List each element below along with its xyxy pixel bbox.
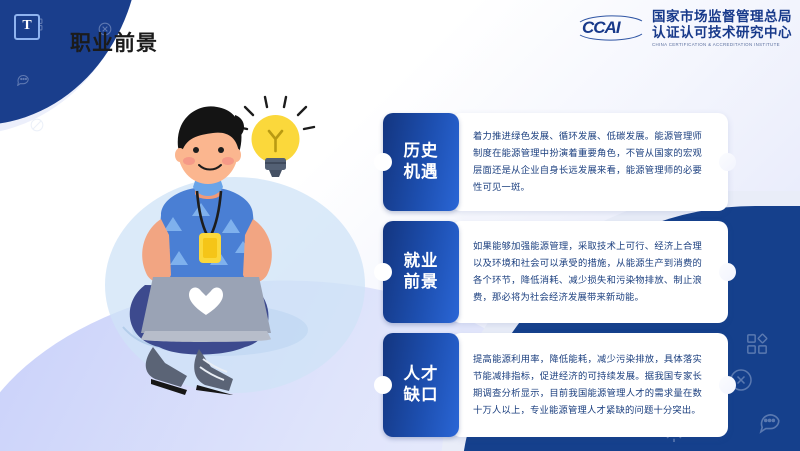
card-tab[interactable]: 历史 机遇 — [383, 113, 459, 211]
page-title: 职业前景 — [70, 27, 158, 57]
card-employment-outlook[interactable]: 就业 前景 如果能够加强能源管理，采取技术上可行、经济上合理以及环境和社会可以承… — [383, 221, 728, 323]
logo-line-3-english: CHINA CERTIFICATION & ACCREDITATION INST… — [652, 42, 792, 47]
content-cards: 历史 机遇 着力推进绿色发展、循环发展、低碳发展。能源管理师制度在能源管理中扮演… — [383, 113, 728, 447]
grid-apps-icon — [746, 333, 768, 355]
chat-bubble-icon — [16, 72, 30, 86]
organization-logo: CCAI 国家市场监督管理总局 认证认可技术研究中心 CHINA CERTIFI… — [578, 9, 792, 48]
lightbulb-icon — [237, 97, 314, 177]
text-tool-icon[interactable]: T — [14, 14, 40, 40]
logo-line-1: 国家市场监督管理总局 — [652, 9, 792, 25]
card-tab[interactable]: 就业 前景 — [383, 221, 459, 323]
card-body: 提高能源利用率，降低能耗，减少污染排放，具体落实节能减排指标，促进经济的可持续发… — [451, 333, 728, 437]
tab-notch — [374, 153, 392, 171]
card-body-text: 如果能够加强能源管理，采取技术上可行、经济上合理以及环境和社会可以承受的措施，从… — [473, 238, 702, 307]
card-body-text: 提高能源利用率，降低能耗，减少污染排放，具体落实节能减排指标，促进经济的可持续发… — [473, 351, 702, 420]
prohibited-icon — [30, 118, 44, 132]
card-tab-label: 就业 前景 — [404, 251, 439, 293]
card-body-notch — [719, 153, 736, 171]
logo-organization-text: 国家市场监督管理总局 认证认可技术研究中心 CHINA CERTIFICATIO… — [652, 9, 792, 48]
tab-notch — [374, 263, 392, 281]
card-tab-label: 历史 机遇 — [404, 141, 439, 183]
card-body-text: 着力推进绿色发展、循环发展、低碳发展。能源管理师制度在能源管理中扮演着重要角色，… — [473, 128, 702, 197]
card-tab[interactable]: 人才 缺口 — [383, 333, 459, 437]
card-tab-label: 人才 缺口 — [404, 364, 439, 406]
chat-bubble-icon — [756, 408, 782, 434]
card-body-notch — [719, 376, 736, 394]
tab-notch — [374, 376, 392, 394]
card-history-opportunity[interactable]: 历史 机遇 着力推进绿色发展、循环发展、低碳发展。能源管理师制度在能源管理中扮演… — [383, 113, 728, 211]
logo-line-2: 认证认可技术研究中心 — [652, 25, 792, 41]
slide-canvas: T 职业前景 — [0, 0, 800, 451]
card-body: 如果能够加强能源管理，采取技术上可行、经济上合理以及环境和社会可以承受的措施，从… — [451, 221, 728, 323]
logo-acronym: CCAI — [582, 18, 620, 38]
ccai-logo-mark: CCAI — [578, 13, 644, 43]
person-with-laptop-illustration — [95, 95, 385, 395]
card-body-notch — [719, 263, 736, 281]
laptop — [141, 277, 271, 342]
card-talent-gap[interactable]: 人才 缺口 提高能源利用率，降低能耗，减少污染排放，具体落实节能减排指标，促进经… — [383, 333, 728, 437]
card-body: 着力推进绿色发展、循环发展、低碳发展。能源管理师制度在能源管理中扮演着重要角色，… — [451, 113, 728, 211]
